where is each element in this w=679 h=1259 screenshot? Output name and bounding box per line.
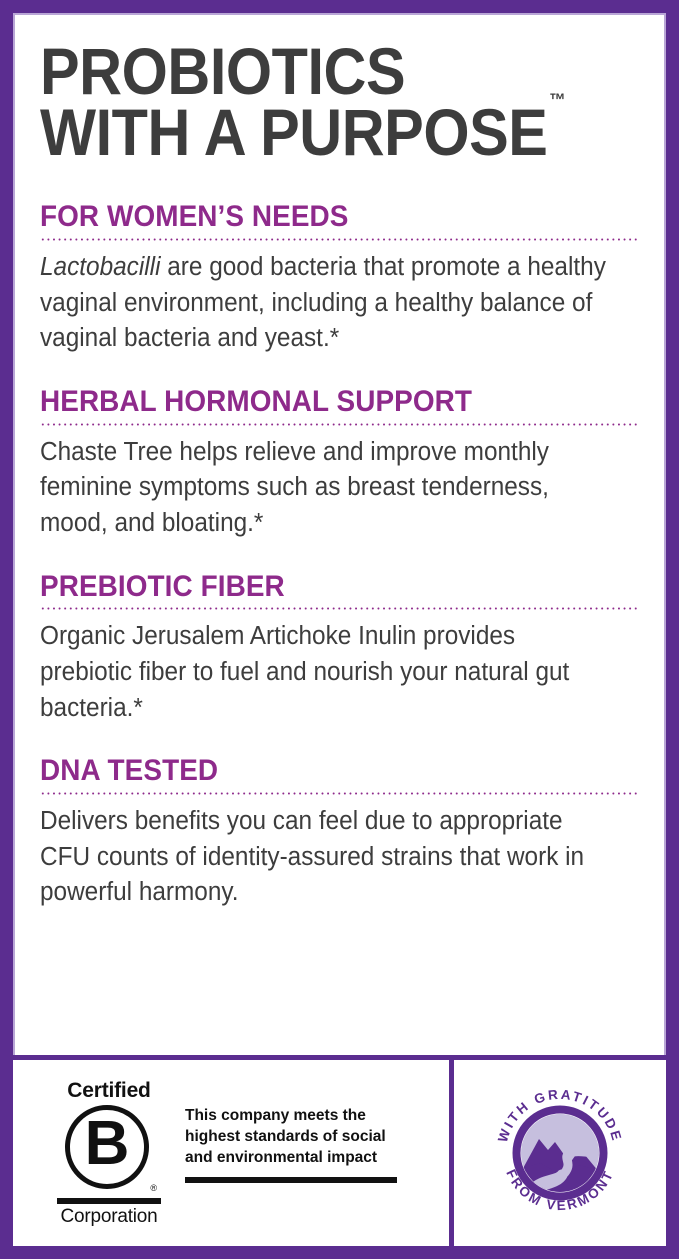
bcorp-certified-label: Certified — [55, 1080, 163, 1101]
title-line-2-text: WITH A PURPOSE — [40, 95, 547, 169]
bcorp-circle-b-icon: B ® — [65, 1105, 153, 1193]
title-line-2: WITH A PURPOSE™ — [40, 102, 579, 163]
italic-term: Lactobacilli — [40, 253, 160, 281]
registered-trademark-icon: ® — [150, 1184, 157, 1193]
section-herbal-hormonal-support: HERBAL HORMONAL SUPPORT Chaste Tree help… — [40, 387, 639, 542]
title-line-1: PROBIOTICS — [40, 41, 579, 102]
bcorp-statement-text: This company meets the highest standards… — [185, 1106, 397, 1168]
section-heading: FOR WOMEN’S NEEDS — [40, 202, 597, 233]
section-body: Organic Jerusalem Artichoke Inulin provi… — [40, 619, 612, 726]
section-body: Chaste Tree helps relieve and improve mo… — [40, 435, 612, 542]
section-heading: HERBAL HORMONAL SUPPORT — [40, 387, 597, 418]
section-heading: PREBIOTIC FIBER — [40, 572, 597, 603]
bcorp-logo: Certified B ® Corporation This company m… — [55, 1080, 397, 1226]
section-for-womens-needs: FOR WOMEN’S NEEDS Lactobacilli are good … — [40, 202, 639, 357]
product-label-panel: PROBIOTICS WITH A PURPOSE™ FOR WOMEN’S N… — [0, 0, 679, 1259]
page-title: PROBIOTICS WITH A PURPOSE™ — [40, 13, 579, 162]
section-body: Delivers benefits you can feel due to ap… — [40, 804, 612, 911]
benefit-sections: FOR WOMEN’S NEEDS Lactobacilli are good … — [40, 202, 639, 911]
trademark-symbol: ™ — [549, 90, 565, 110]
bcorp-statement-block: This company meets the highest standards… — [185, 1080, 397, 1183]
section-dna-tested: DNA TESTED Delivers benefits you can fee… — [40, 756, 639, 911]
vermont-gratitude-seal-icon: WITH GRATITUDE FROM VERMONT — [484, 1077, 636, 1229]
section-body: Lactobacilli are good bacteria that prom… — [40, 250, 612, 357]
bcorp-corporation-label: Corporation — [55, 1207, 163, 1226]
label-content: PROBIOTICS WITH A PURPOSE™ FOR WOMEN’S N… — [13, 13, 666, 911]
bcorp-letter: B — [85, 1113, 130, 1175]
footer-vermont-cell: WITH GRATITUDE FROM VERMONT — [449, 1060, 666, 1246]
footer-bcorp-cell: Certified B ® Corporation This company m… — [13, 1060, 449, 1246]
bcorp-rule — [57, 1198, 161, 1204]
dotted-divider — [40, 607, 639, 610]
dotted-divider — [40, 238, 639, 241]
bcorp-mark: Certified B ® Corporation — [55, 1080, 163, 1226]
dotted-divider — [40, 792, 639, 795]
bcorp-circle: B — [65, 1105, 149, 1189]
section-prebiotic-fiber: PREBIOTIC FIBER Organic Jerusalem Artich… — [40, 572, 639, 727]
dotted-divider — [40, 423, 639, 426]
footer: Certified B ® Corporation This company m… — [13, 1055, 666, 1246]
bcorp-statement-rule — [185, 1177, 397, 1183]
section-heading: DNA TESTED — [40, 756, 597, 787]
